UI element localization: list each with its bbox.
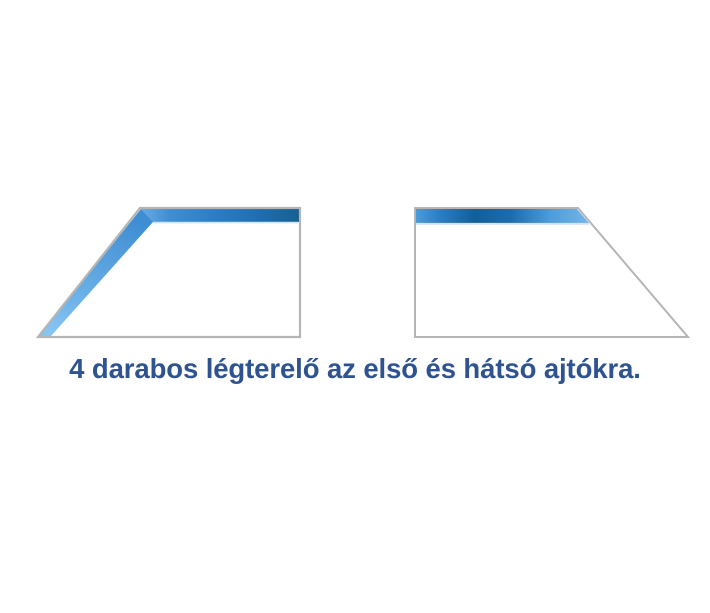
- rear-deflector-body: [415, 208, 688, 337]
- rear-door-deflector: [415, 208, 688, 337]
- front-deflector-body: [38, 208, 300, 337]
- product-figure: 4 darabos légterelő az első és hátsó ajt…: [0, 0, 710, 613]
- rear-deflector-top-band: [416, 209, 589, 223]
- front-door-deflector: [38, 208, 300, 337]
- front-deflector-top-band: [141, 209, 299, 222]
- deflector-illustration: [0, 0, 710, 613]
- figure-caption: 4 darabos légterelő az első és hátsó ajt…: [0, 352, 710, 386]
